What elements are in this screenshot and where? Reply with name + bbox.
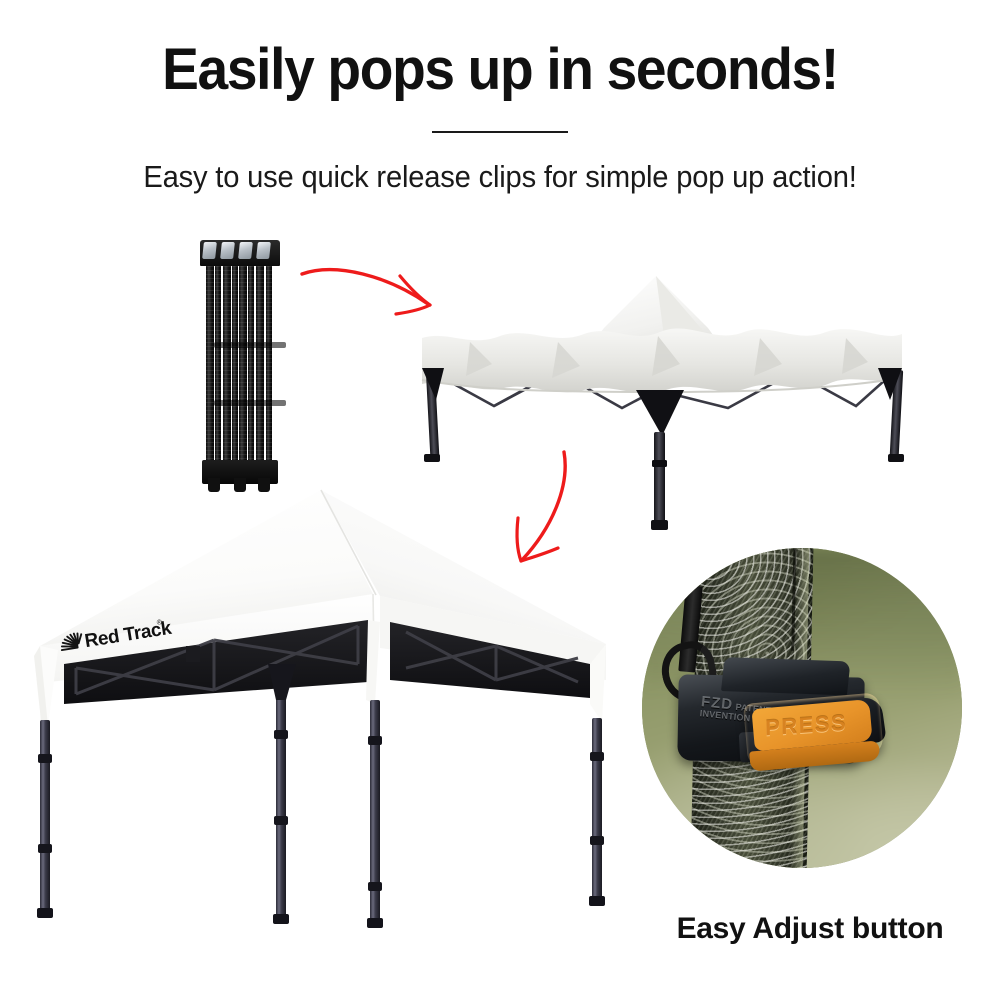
main-gazebo-illustration: Red Track ® <box>18 468 628 928</box>
page-subtitle: Easy to use quick release clips for simp… <box>30 158 970 196</box>
folded-frame-illustration <box>196 228 284 490</box>
folded-frame-poles <box>206 250 274 468</box>
infographic-page: Easily pops up in seconds! Easy to use q… <box>0 0 1000 1000</box>
photo-caption: Easy Adjust button <box>620 912 1000 946</box>
title-divider <box>432 131 568 133</box>
press-button[interactable]: PRESS <box>743 692 885 780</box>
easy-adjust-button-photo: FZD PATENTS OF INVENTION PRESS <box>642 548 962 868</box>
page-title: Easily pops up in seconds! <box>25 38 975 102</box>
folded-frame-top-cap <box>200 240 280 266</box>
